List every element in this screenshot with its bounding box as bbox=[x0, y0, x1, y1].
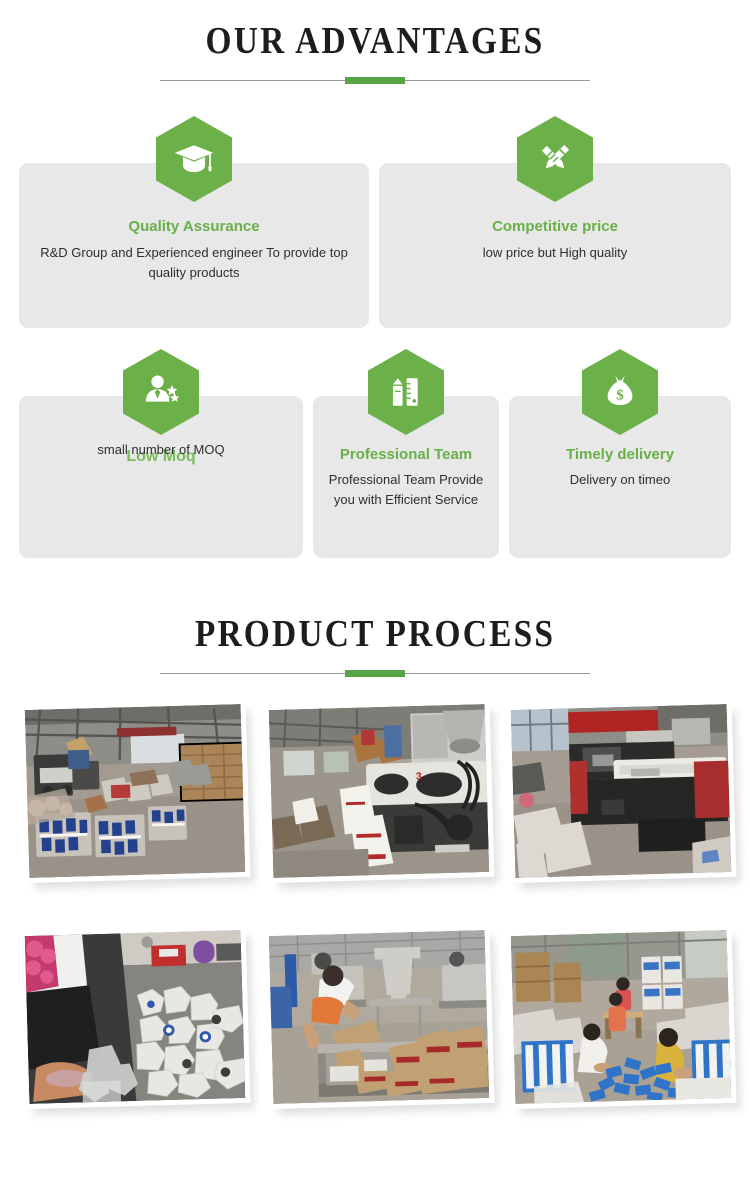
advantage-text-stack: small number of MOQ Low Moq bbox=[19, 396, 303, 558]
graduation-cap-icon bbox=[156, 116, 232, 202]
process-photo[interactable] bbox=[20, 925, 251, 1109]
process-photo-image-material-loading bbox=[269, 930, 490, 1104]
process-photo[interactable] bbox=[506, 925, 737, 1109]
process-section-heading: PRODUCT PROCESS bbox=[0, 615, 750, 679]
process-photo-image-packing bbox=[511, 930, 732, 1104]
heading-divider bbox=[160, 76, 590, 86]
advantage-description: small number of MOQ bbox=[19, 440, 303, 460]
divider-accent-bar bbox=[345, 670, 405, 677]
advantage-card-competitive-price[interactable]: Competitive price low price but High qua… bbox=[379, 163, 731, 328]
advantage-title: Competitive price bbox=[379, 218, 731, 236]
process-photo-image-molding-machine: 3 bbox=[269, 704, 490, 878]
process-photo[interactable]: YISU 亿塑 bbox=[506, 699, 737, 883]
advantage-title: Professional Team bbox=[313, 446, 499, 464]
advantage-card-timely-delivery[interactable]: $ Timely delivery Delivery on timeo bbox=[509, 396, 731, 558]
advantage-description: Delivery on timeo bbox=[509, 470, 731, 490]
advantage-card-low-moq[interactable]: small number of MOQ Low Moq bbox=[19, 396, 303, 558]
product-process-photo-grid: 3 bbox=[0, 690, 750, 1140]
advantage-description: Professional Team Provide you with Effic… bbox=[313, 470, 499, 510]
advantage-description: low price but High quality bbox=[379, 243, 731, 263]
advantage-card-professional-team[interactable]: Professional Team Professional Team Prov… bbox=[313, 396, 499, 558]
pen-pencil-icon bbox=[517, 116, 593, 202]
advantages-section-heading: OUR ADVANTAGES bbox=[0, 22, 750, 86]
svg-text:$: $ bbox=[616, 388, 624, 404]
divider-accent-bar bbox=[345, 77, 405, 84]
process-photo[interactable] bbox=[264, 925, 495, 1109]
advantage-title: Timely delivery bbox=[509, 446, 731, 464]
page-title-advantages: OUR ADVANTAGES bbox=[45, 22, 705, 60]
heading-divider bbox=[160, 669, 590, 679]
process-photo[interactable] bbox=[20, 699, 251, 883]
process-photo-image-assembly bbox=[25, 930, 246, 1104]
process-photo-image-yisu-machine: YISU 亿塑 bbox=[511, 704, 732, 878]
money-bag-icon: $ bbox=[582, 349, 658, 435]
advantage-description: R&D Group and Experienced engineer To pr… bbox=[19, 243, 369, 283]
advantage-card-quality-assurance[interactable]: Quality Assurance R&D Group and Experien… bbox=[19, 163, 369, 328]
advantage-title: Quality Assurance bbox=[19, 218, 369, 236]
process-photo[interactable]: 3 bbox=[264, 699, 495, 883]
process-photo-image-warehouse bbox=[25, 704, 246, 878]
svg-text:3: 3 bbox=[416, 771, 422, 782]
page-title-process: PRODUCT PROCESS bbox=[45, 615, 705, 653]
pencil-ruler-icon bbox=[368, 349, 444, 435]
